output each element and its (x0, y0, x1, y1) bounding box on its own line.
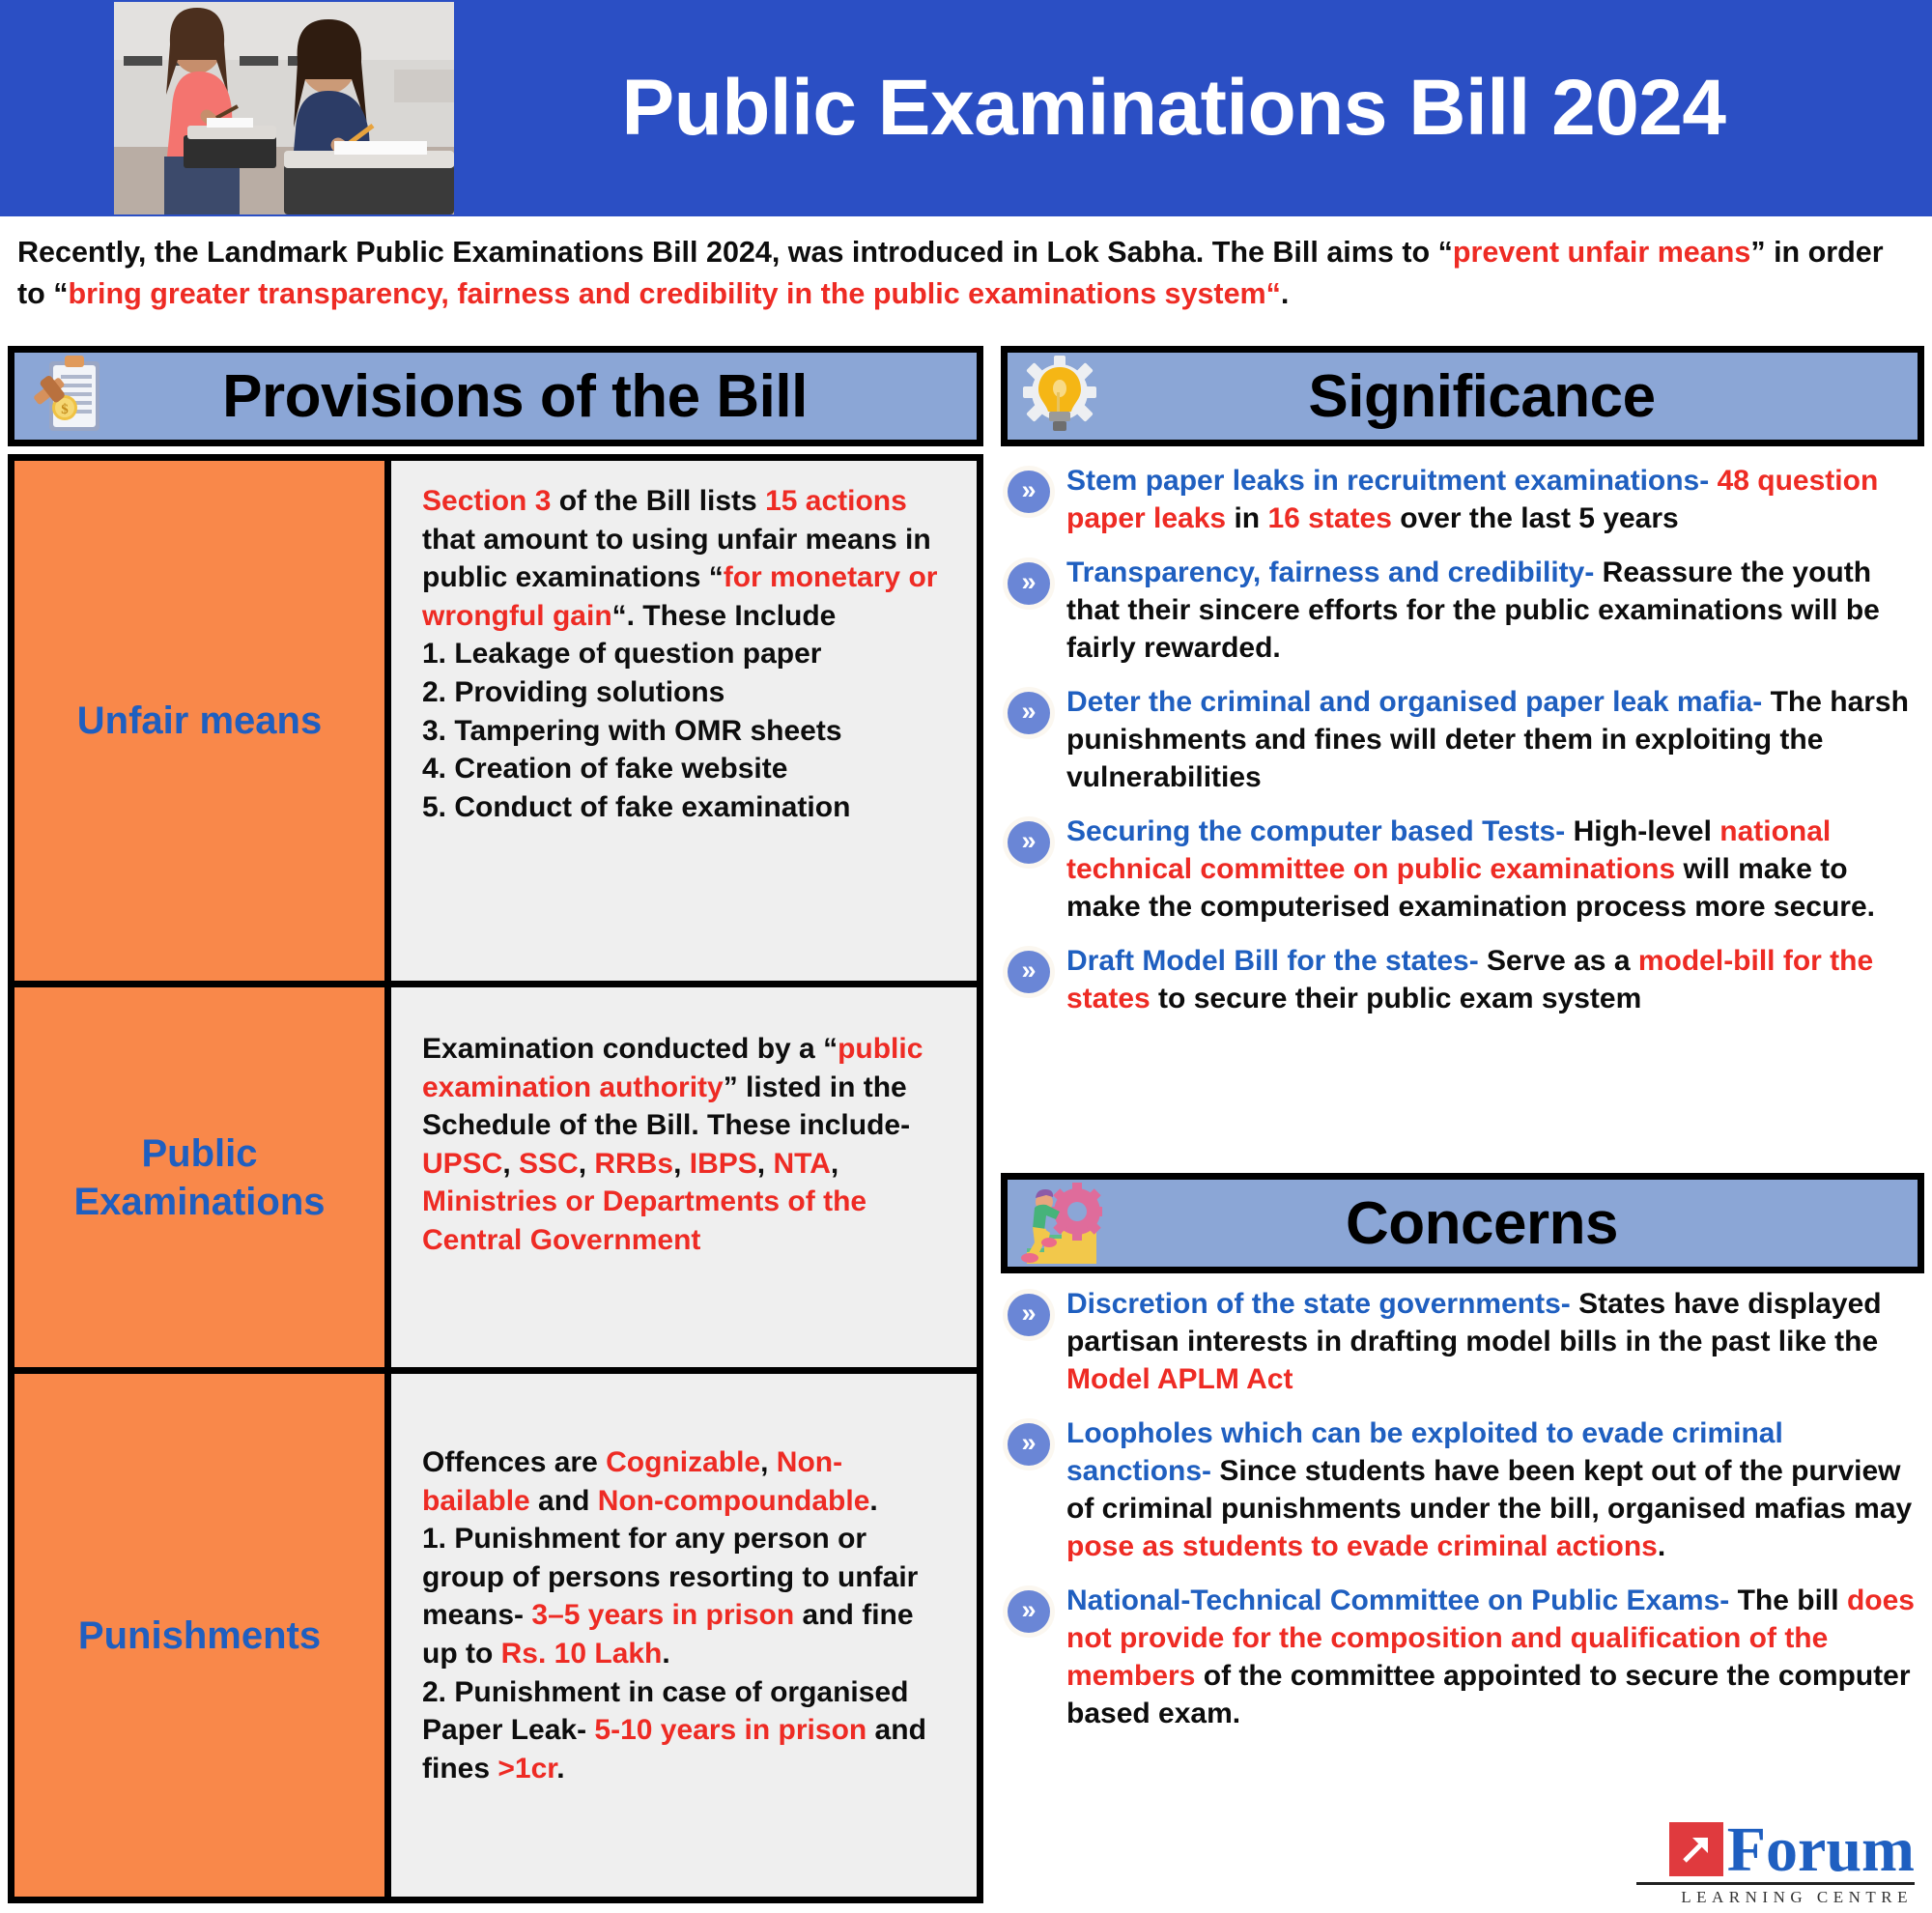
list-item-text: Loopholes which can be exploited to evad… (1066, 1414, 1926, 1565)
list-item-text: National-Technical Committee on Public E… (1066, 1582, 1926, 1732)
significance-bullet-list: »Stem paper leaks in recruitment examina… (999, 462, 1926, 1034)
double-chevron-bullet-icon: » (1003, 466, 1055, 518)
double-chevron-bullet-icon: » (1003, 1585, 1055, 1638)
row-label-public-examinations: Public Examinations (14, 987, 391, 1367)
forum-learning-centre-logo: Forum LEARNING CENTRE (1636, 1821, 1915, 1907)
logo-main: Forum (1669, 1821, 1915, 1880)
section-header-concerns: Concerns (1001, 1173, 1924, 1273)
row-content-punishments: Offences are Cognizable, Non-bailable an… (391, 1374, 977, 1897)
double-chevron-bullet-icon: » (1003, 816, 1055, 869)
infographic-page: Public Examinations Bill 2024 Recently, … (0, 0, 1932, 1913)
list-item: »Deter the criminal and organised paper … (999, 683, 1926, 796)
list-item: »Transparency, fairness and credibility-… (999, 554, 1926, 667)
section-title-provisions: Provisions of the Bill (111, 362, 977, 431)
list-item: »Stem paper leaks in recruitment examina… (999, 462, 1926, 537)
section-title-concerns: Concerns (1104, 1189, 1918, 1258)
list-item: »Loopholes which can be exploited to eva… (999, 1414, 1926, 1565)
list-item: »Discretion of the state governments- St… (999, 1285, 1926, 1398)
list-item-text: Deter the criminal and organised paper l… (1066, 683, 1926, 796)
list-item-text: Draft Model Bill for the states- Serve a… (1066, 942, 1926, 1017)
logo-subtitle: LEARNING CENTRE (1681, 1888, 1915, 1907)
concerns-bullet-list: »Discretion of the state governments- St… (999, 1285, 1926, 1749)
intro-paragraph: Recently, the Landmark Public Examinatio… (17, 232, 1911, 316)
double-chevron-bullet-icon: » (1003, 687, 1055, 739)
section-header-provisions: $ Provisions of the Bill (8, 346, 983, 446)
students-exam-photo-icon (114, 2, 454, 214)
svg-text:$: $ (61, 402, 69, 417)
list-item-text: Transparency, fairness and credibility- … (1066, 554, 1926, 667)
section-title-significance: Significance (1104, 362, 1918, 431)
list-item-text: Securing the computer based Tests- High-… (1066, 813, 1926, 926)
provisions-table: Unfair means Section 3 of the Bill lists… (8, 454, 983, 1903)
row-label-unfair-means: Unfair means (14, 461, 391, 981)
logo-divider (1636, 1882, 1915, 1885)
double-chevron-bullet-icon: » (1003, 557, 1055, 610)
double-chevron-bullet-icon: » (1003, 946, 1055, 998)
table-row: Punishments Offences are Cognizable, Non… (14, 1374, 977, 1897)
double-chevron-bullet-icon: » (1003, 1418, 1055, 1470)
list-item: »Draft Model Bill for the states- Serve … (999, 942, 1926, 1017)
page-header: Public Examinations Bill 2024 (0, 0, 1932, 216)
page-title: Public Examinations Bill 2024 (483, 0, 1864, 216)
clipboard-gavel-coin-icon: $ (22, 352, 111, 441)
logo-wordmark: Forum (1727, 1821, 1915, 1880)
table-row: Public Examinations Examination conducte… (14, 987, 977, 1374)
list-item: »Securing the computer based Tests- High… (999, 813, 1926, 926)
section-header-significance: Significance (1001, 346, 1924, 446)
row-content-unfair-means: Section 3 of the Bill lists 15 actions t… (391, 461, 977, 981)
header-photo (114, 2, 454, 214)
table-row: Unfair means Section 3 of the Bill lists… (14, 461, 977, 987)
row-label-punishments: Punishments (14, 1374, 391, 1897)
double-chevron-bullet-icon: » (1003, 1289, 1055, 1341)
arrow-up-right-icon (1669, 1822, 1723, 1876)
lightbulb-gear-icon (1015, 352, 1104, 441)
list-item: »National-Technical Committee on Public … (999, 1582, 1926, 1732)
list-item-text: Discretion of the state governments- Sta… (1066, 1285, 1926, 1398)
list-item-text: Stem paper leaks in recruitment examinat… (1066, 462, 1926, 537)
person-climbing-stairs-gear-icon (1015, 1179, 1104, 1268)
row-content-public-examinations: Examination conducted by a “public exami… (391, 987, 977, 1367)
